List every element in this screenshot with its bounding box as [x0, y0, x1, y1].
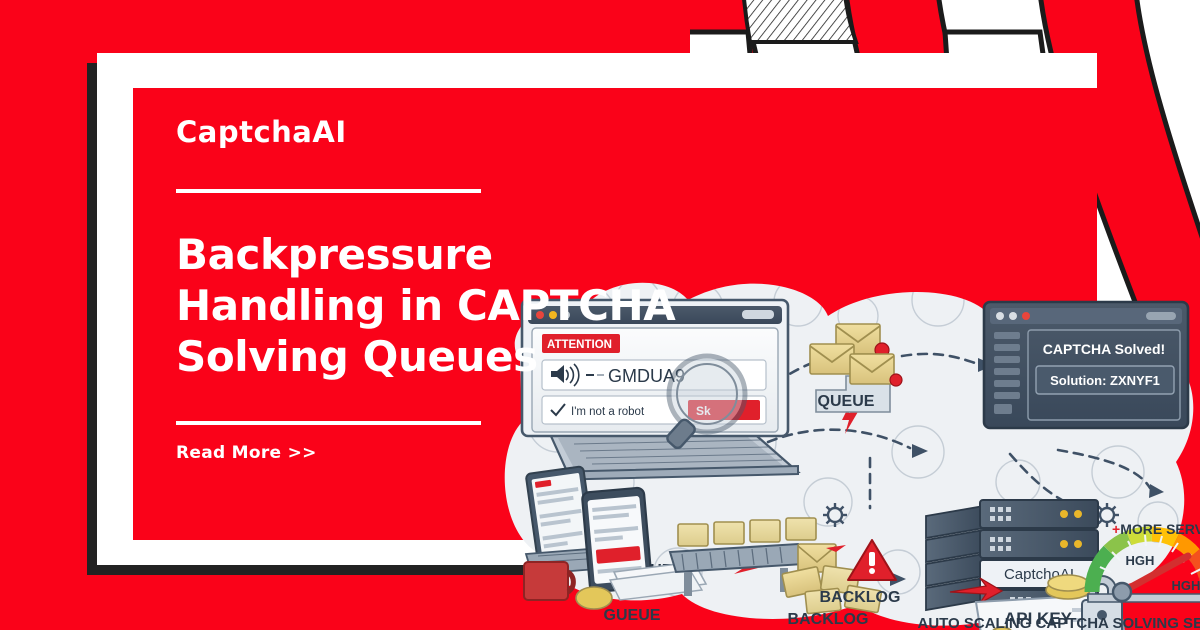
read-more-link[interactable]: Read More >> — [176, 443, 317, 463]
coffee-mug-icon — [524, 562, 573, 600]
label-queue-mail: QUEUE — [818, 393, 875, 410]
hero-text-column: CaptchaAI Backpressure Handling in CAPTC… — [176, 118, 696, 463]
envelope-2 — [810, 344, 854, 374]
captcha-solved-title: CAPTCHA Solved! — [1043, 341, 1165, 357]
hatched-wedge — [742, 0, 856, 42]
divider-bottom — [176, 421, 481, 425]
poster-canvas: CaptchaAI Backpressure Handling in CAPTC… — [0, 0, 1200, 630]
cta-block: Read More >> — [176, 421, 696, 463]
gauge-label-left: HGH — [1126, 553, 1155, 568]
brand-logo: CaptchaAI — [176, 118, 696, 147]
page-title: Backpressure Handling in CAPTCHA Solving… — [176, 229, 696, 383]
svg-text:+MORE SERVERS: +MORE SERVERS — [1112, 521, 1200, 537]
servers-caption: AUTO SCALING CAPTCHA SOLVING SERVERS — [918, 615, 1200, 630]
label-queue-devices: GUEUE — [604, 607, 661, 624]
captcha-solution-text: Solution: ZXNYF1 — [1050, 373, 1160, 388]
label-backlog-center: BACKLOG — [820, 589, 901, 606]
more-servers-label: MORE SERVERS — [1120, 521, 1200, 537]
browser-solved: CAPTCHA Solved! Solution: ZXNYF1 — [984, 302, 1188, 428]
divider-top — [176, 189, 481, 193]
coins-icon — [1046, 575, 1090, 599]
label-backlog-conveyor: BACKLOG — [788, 611, 869, 628]
envelope-3 — [850, 354, 902, 386]
more-servers-plus: + — [1112, 521, 1120, 537]
more-servers-annotation: +MORE SERVERS — [1112, 521, 1200, 537]
gauge-label-right: HGH — [1172, 578, 1200, 593]
